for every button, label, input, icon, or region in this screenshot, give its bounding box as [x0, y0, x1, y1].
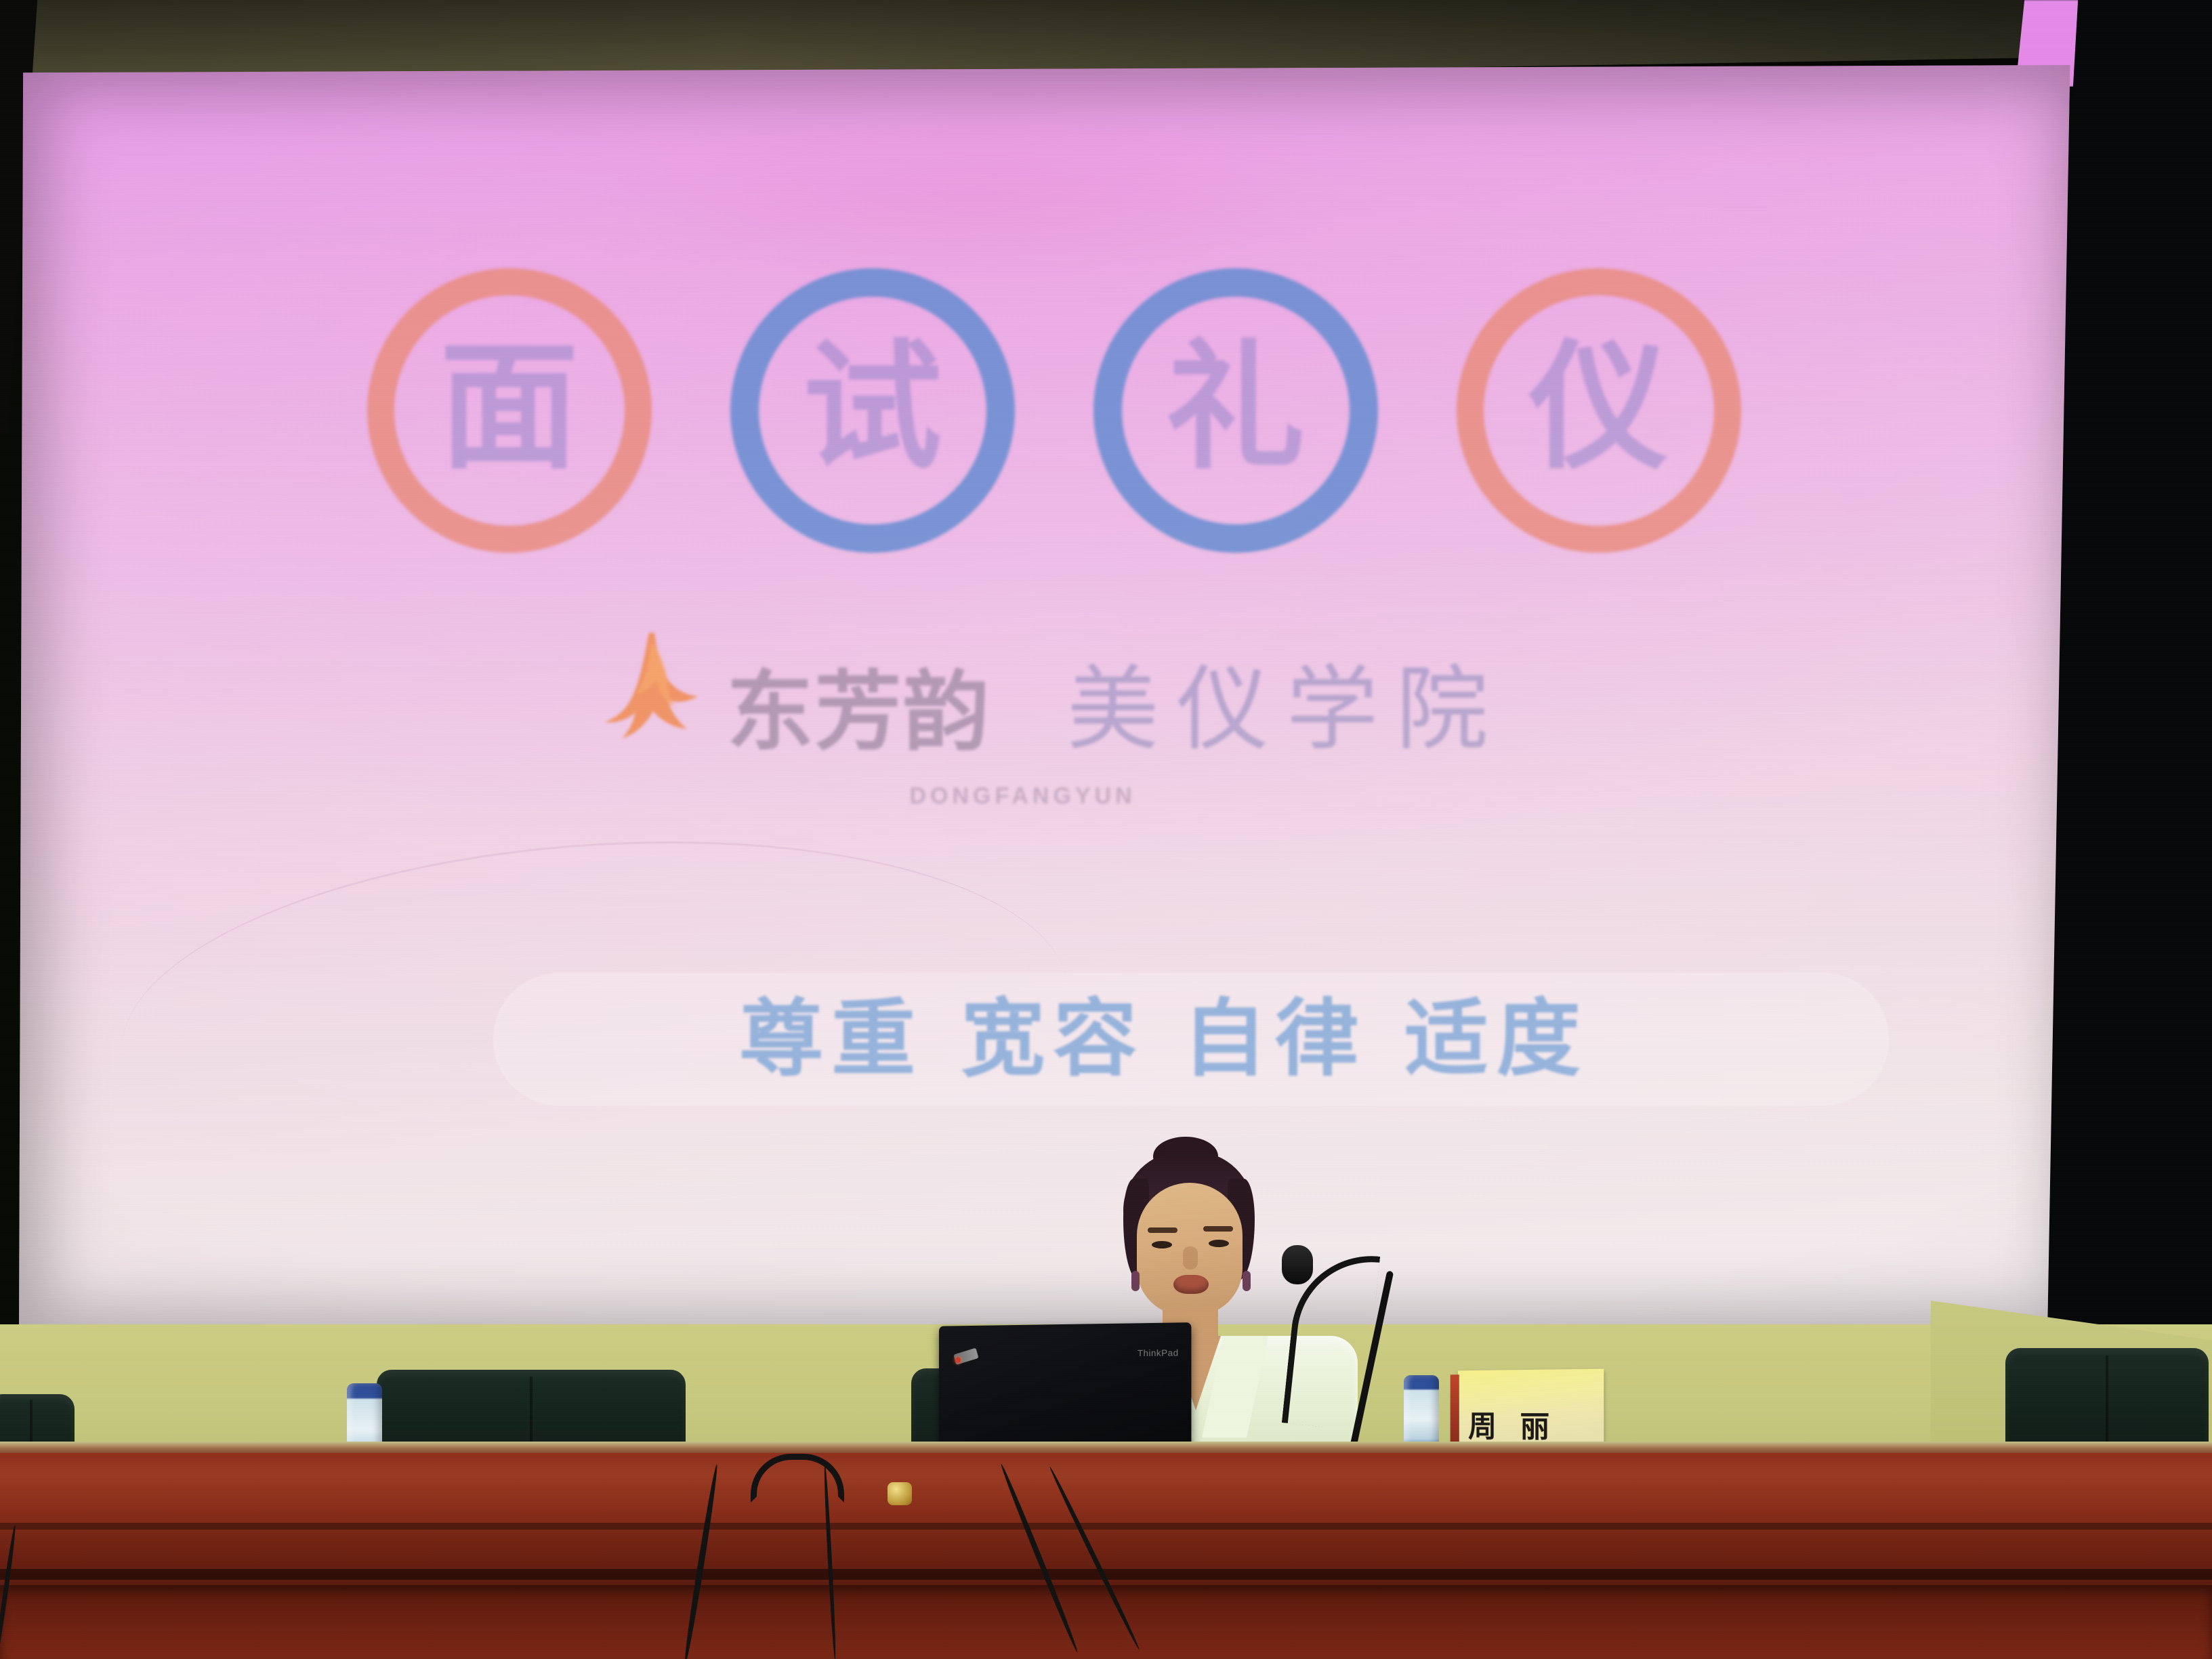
earring-left — [1131, 1271, 1140, 1291]
laptop-indicator-dot — [955, 1357, 961, 1363]
nameplate: 周 丽 — [1458, 1369, 1604, 1447]
earring-right — [1243, 1271, 1251, 1291]
nose — [1183, 1246, 1198, 1269]
eye-right — [1209, 1240, 1229, 1247]
laptop-brand-text: ThinkPad — [1138, 1347, 1179, 1358]
screen-wrinkle — [109, 812, 1080, 1231]
eyebrow-left — [1148, 1227, 1177, 1233]
podium-lower-panel — [0, 1585, 2212, 1659]
eyebrow-right — [1203, 1226, 1233, 1232]
nameplate-name: 周 丽 — [1468, 1402, 1556, 1446]
screen-vignette — [19, 65, 2089, 1339]
screenshot-stage: 面 试 礼 仪 东芳韵 DONGFANGYUN 美仪 — [0, 0, 2212, 1659]
projection-screen — [19, 65, 2089, 1339]
screen-grain — [19, 65, 2089, 1339]
mouth — [1173, 1275, 1209, 1294]
podium-gold-fitting — [888, 1482, 912, 1505]
screen-hotspot — [602, 112, 1347, 289]
eye-left — [1152, 1241, 1172, 1248]
podium-groove-upper — [0, 1523, 2212, 1530]
microphone-head-icon — [1282, 1245, 1313, 1284]
nameplate-spine — [1451, 1374, 1459, 1444]
